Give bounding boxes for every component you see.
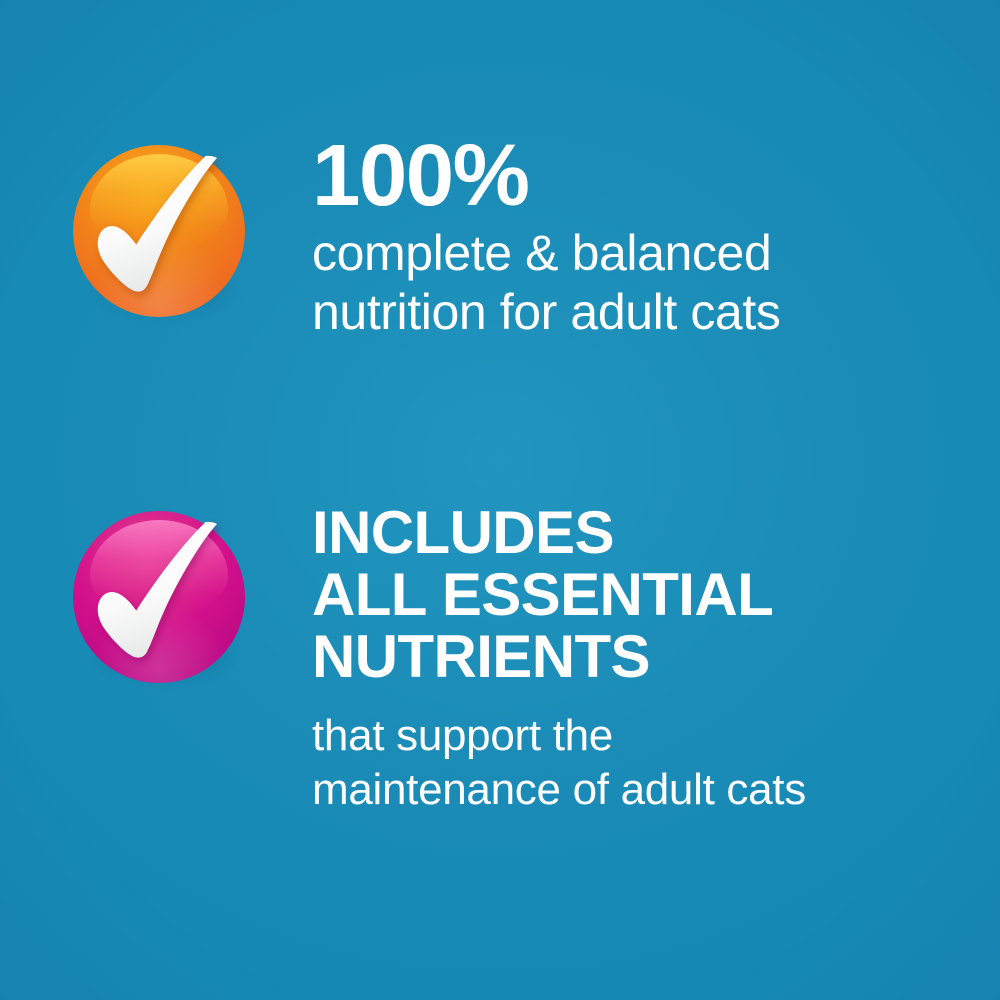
claim-subline-2: nutrition for adult cats xyxy=(312,283,780,342)
claim-text-essential-nutrients: INCLUDES ALL ESSENTIAL NUTRIENTS that su… xyxy=(312,496,806,817)
claims-list: 100% complete & balanced nutrition for a… xyxy=(0,0,1000,1000)
claim-headline-line-3: NUTRIENTS xyxy=(312,626,806,688)
product-claims-poster: 100% complete & balanced nutrition for a… xyxy=(0,0,1000,1000)
check-mark-icon xyxy=(60,130,260,330)
claim-text-complete-balanced: 100% complete & balanced nutrition for a… xyxy=(312,130,780,342)
claim-subline-2: maintenance of adult cats xyxy=(312,763,806,817)
claim-headline: 100% xyxy=(312,136,780,216)
check-badge-orange xyxy=(60,130,260,330)
claim-subline-1: that support the xyxy=(312,709,806,763)
claim-headline-line-2: ALL ESSENTIAL xyxy=(312,564,806,626)
claim-item-complete-balanced: 100% complete & balanced nutrition for a… xyxy=(60,130,780,342)
check-badge-magenta xyxy=(60,496,260,696)
check-mark-icon xyxy=(60,496,260,696)
claim-headline-line-1: INCLUDES xyxy=(312,502,806,564)
claim-item-essential-nutrients: INCLUDES ALL ESSENTIAL NUTRIENTS that su… xyxy=(60,496,806,817)
claim-subline-1: complete & balanced xyxy=(312,224,780,283)
